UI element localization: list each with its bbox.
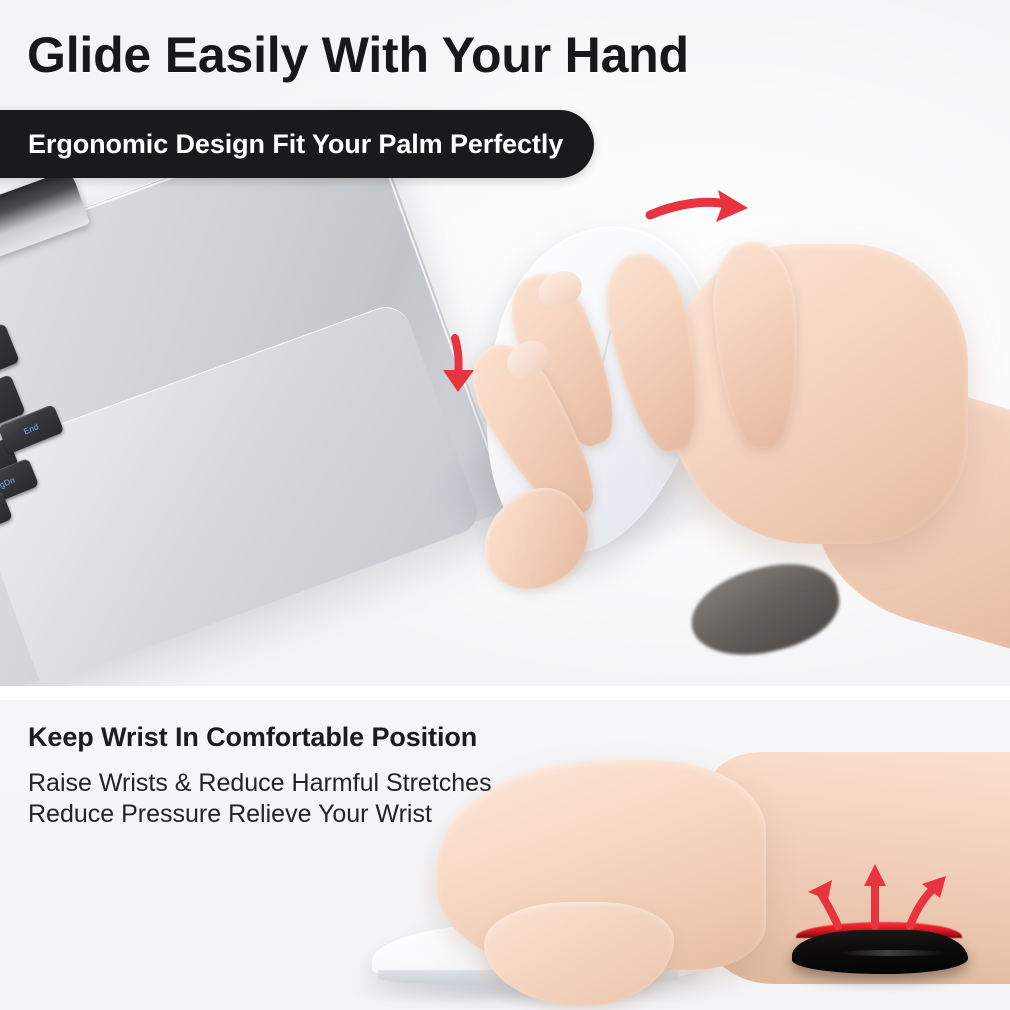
sub-banner-label: Ergonomic Design Fit Your Palm Perfectly — [28, 110, 563, 178]
wrist-rest-sheen — [838, 950, 948, 956]
top-photo-panel: Backspace \ Enter ' Shift — [0, 0, 1010, 686]
wrist-rest-cushion — [792, 922, 968, 978]
hand-on-mouse — [520, 208, 1010, 686]
key-label: End — [22, 422, 39, 435]
key-label: PgDn — [0, 475, 16, 491]
product-feature-image: Backspace \ Enter ' Shift — [0, 0, 1010, 1010]
bottom-thumb — [484, 902, 674, 1006]
sub-banner: Ergonomic Design Fit Your Palm Perfectly — [0, 110, 594, 178]
page-title: Glide Easily With Your Hand — [27, 26, 689, 84]
section-divider — [0, 686, 1010, 700]
bottom-heading: Keep Wrist In Comfortable Position — [28, 722, 477, 753]
